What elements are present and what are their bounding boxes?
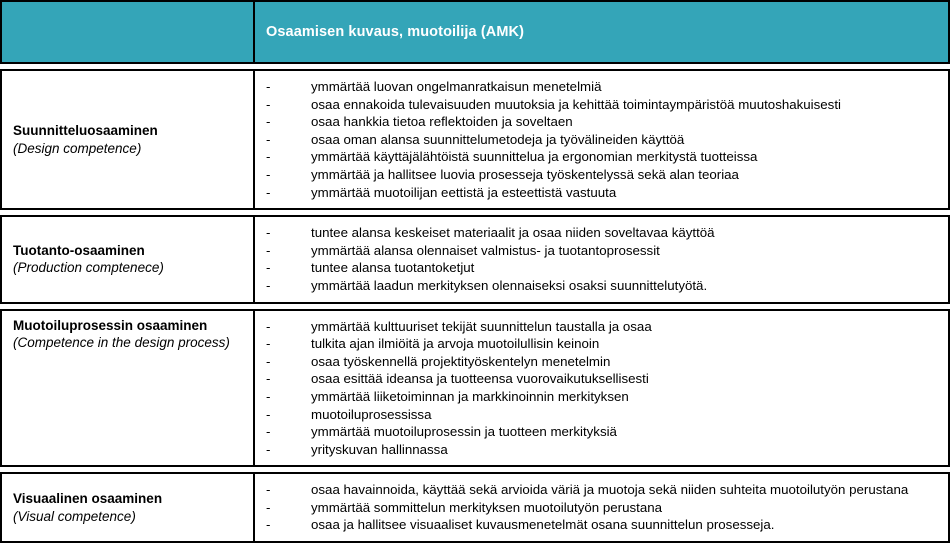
bullet-dash-icon: - — [266, 481, 270, 499]
list-item-text: osaa ennakoida tulevaisuuden muutoksia j… — [311, 97, 841, 112]
bullet-dash-icon: - — [266, 441, 270, 459]
list-item-text: tuntee alansa tuotantoketjut — [311, 260, 474, 275]
competence-description-cell: -ymmärtää luovan ongelmanratkaisun menet… — [254, 69, 950, 210]
bullet-dash-icon: - — [266, 423, 270, 441]
competence-bullet-list: -ymmärtää kulttuuriset tekijät suunnitte… — [255, 318, 942, 459]
bullet-dash-icon: - — [266, 516, 270, 534]
list-item-text: osaa työskennellä projektityöskentelyn m… — [311, 354, 610, 369]
table-row: Suunnitteluosaaminen(Design competence)-… — [0, 69, 950, 210]
competence-name-fi: Muotoiluprosessin osaaminen — [13, 317, 245, 334]
competence-category-cell: Visuaalinen osaaminen(Visual competence) — [0, 472, 254, 543]
list-item: -tuntee alansa keskeiset materiaalit ja … — [266, 224, 942, 242]
header-description-label: Osaamisen kuvaus, muotoilija (AMK) — [255, 24, 948, 40]
competence-category-cell: Muotoiluprosessin osaaminen(Competence i… — [0, 309, 254, 468]
competence-description-cell: -ymmärtää kulttuuriset tekijät suunnitte… — [254, 309, 950, 468]
list-item-text: ymmärtää sommittelun merkityksen muotoil… — [311, 500, 662, 515]
list-item: -osaa ennakoida tulevaisuuden muutoksia … — [266, 96, 942, 114]
bullet-dash-icon: - — [266, 406, 270, 424]
header-cell-description: Osaamisen kuvaus, muotoilija (AMK) — [254, 0, 950, 64]
bullet-dash-icon: - — [266, 96, 270, 114]
list-item: -ymmärtää liiketoiminnan ja markkinoinni… — [266, 388, 942, 406]
competence-category-cell: Suunnitteluosaaminen(Design competence) — [0, 69, 254, 210]
table-row: Tuotanto-osaaminen(Production comptenece… — [0, 215, 950, 303]
bullet-dash-icon: - — [266, 499, 270, 517]
list-item-text: osaa havainnoida, käyttää sekä arvioida … — [311, 482, 908, 497]
bullet-dash-icon: - — [266, 166, 270, 184]
competence-name-fi: Tuotanto-osaaminen — [13, 242, 245, 259]
list-item: -ymmärtää käyttäjälähtöistä suunnittelua… — [266, 148, 942, 166]
list-item: -ymmärtää muotoiluprosessin ja tuotteen … — [266, 423, 942, 441]
bullet-dash-icon: - — [266, 370, 270, 388]
list-item: -yrityskuvan hallinnassa — [266, 441, 942, 459]
list-item: -ymmärtää kulttuuriset tekijät suunnitte… — [266, 318, 942, 336]
list-item-text: osaa oman alansa suunnittelumetodeja ja … — [311, 132, 684, 147]
competence-description-cell: -tuntee alansa keskeiset materiaalit ja … — [254, 215, 950, 303]
list-item: -ymmärtää alansa olennaiset valmistus- j… — [266, 242, 942, 260]
list-item: -osaa oman alansa suunnittelumetodeja ja… — [266, 131, 942, 149]
list-item-text: ymmärtää laadun merkityksen olennaiseksi… — [311, 278, 707, 293]
competence-name-en: (Competence in the design process) — [13, 334, 245, 351]
list-item: -muotoiluprosessissa — [266, 406, 942, 424]
list-item-text: ymmärtää alansa olennaiset valmistus- ja… — [311, 243, 660, 258]
competence-description-cell: -osaa havainnoida, käyttää sekä arvioida… — [254, 472, 950, 543]
list-item-text: muotoiluprosessissa — [311, 407, 431, 422]
list-item-text: osaa esittää ideansa ja tuotteensa vuoro… — [311, 371, 649, 386]
list-item-text: ymmärtää muotoiluprosessin ja tuotteen m… — [311, 424, 617, 439]
table-row: Visuaalinen osaaminen(Visual competence)… — [0, 472, 950, 543]
bullet-dash-icon: - — [266, 277, 270, 295]
competence-category-cell: Tuotanto-osaaminen(Production comptenece… — [0, 215, 254, 303]
list-item: -ymmärtää ja hallitsee luovia prosesseja… — [266, 166, 942, 184]
list-item: -ymmärtää luovan ongelmanratkaisun menet… — [266, 78, 942, 96]
bullet-dash-icon: - — [266, 335, 270, 353]
list-item: -tulkita ajan ilmiöitä ja arvoja muotoil… — [266, 335, 942, 353]
competence-table: Osaamisen kuvaus, muotoilija (AMK)Suunni… — [0, 0, 950, 543]
competence-name-en: (Design competence) — [13, 140, 245, 157]
competence-bullet-list: -osaa havainnoida, käyttää sekä arvioida… — [255, 481, 942, 534]
bullet-dash-icon: - — [266, 318, 270, 336]
header-cell-category — [0, 0, 254, 64]
list-item: -ymmärtää sommittelun merkityksen muotoi… — [266, 499, 942, 517]
list-item-text: tuntee alansa keskeiset materiaalit ja o… — [311, 225, 715, 240]
list-item-text: ymmärtää liiketoiminnan ja markkinoinnin… — [311, 389, 629, 404]
list-item: -ymmärtää laadun merkityksen olennaiseks… — [266, 277, 942, 295]
list-item-text: osaa ja hallitsee visuaaliset kuvausmene… — [311, 517, 774, 532]
competence-name-en: (Visual competence) — [13, 508, 245, 525]
bullet-dash-icon: - — [266, 184, 270, 202]
list-item-text: tulkita ajan ilmiöitä ja arvoja muotoilu… — [311, 336, 599, 351]
table-header-row: Osaamisen kuvaus, muotoilija (AMK) — [0, 0, 950, 64]
bullet-dash-icon: - — [266, 388, 270, 406]
bullet-dash-icon: - — [266, 259, 270, 277]
list-item-text: ymmärtää luovan ongelmanratkaisun menete… — [311, 79, 601, 94]
list-item: -osaa työskennellä projektityöskentelyn … — [266, 353, 942, 371]
competence-name-fi: Suunnitteluosaaminen — [13, 122, 245, 139]
competence-name-en: (Production comptenece) — [13, 259, 245, 276]
competence-bullet-list: -ymmärtää luovan ongelmanratkaisun menet… — [255, 78, 942, 201]
table-row: Muotoiluprosessin osaaminen(Competence i… — [0, 309, 950, 468]
bullet-dash-icon: - — [266, 113, 270, 131]
bullet-dash-icon: - — [266, 131, 270, 149]
table-body: Osaamisen kuvaus, muotoilija (AMK)Suunni… — [0, 0, 950, 543]
list-item-text: ymmärtää muotoilijan eettistä ja esteett… — [311, 185, 616, 200]
competence-name-fi: Visuaalinen osaaminen — [13, 490, 245, 507]
list-item: -osaa ja hallitsee visuaaliset kuvausmen… — [266, 516, 942, 534]
bullet-dash-icon: - — [266, 224, 270, 242]
bullet-dash-icon: - — [266, 242, 270, 260]
list-item-text: ymmärtää kulttuuriset tekijät suunnittel… — [311, 319, 652, 334]
list-item: -osaa havainnoida, käyttää sekä arvioida… — [266, 481, 942, 499]
list-item: -ymmärtää muotoilijan eettistä ja esteet… — [266, 184, 942, 202]
bullet-dash-icon: - — [266, 148, 270, 166]
list-item: -osaa hankkia tietoa reflektoiden ja sov… — [266, 113, 942, 131]
bullet-dash-icon: - — [266, 353, 270, 371]
competence-bullet-list: -tuntee alansa keskeiset materiaalit ja … — [255, 224, 942, 294]
list-item-text: ymmärtää käyttäjälähtöistä suunnittelua … — [311, 149, 757, 164]
list-item: -tuntee alansa tuotantoketjut — [266, 259, 942, 277]
bullet-dash-icon: - — [266, 78, 270, 96]
list-item-text: yrityskuvan hallinnassa — [311, 442, 448, 457]
list-item: -osaa esittää ideansa ja tuotteensa vuor… — [266, 370, 942, 388]
list-item-text: ymmärtää ja hallitsee luovia prosesseja … — [311, 167, 739, 182]
list-item-text: osaa hankkia tietoa reflektoiden ja sove… — [311, 114, 573, 129]
